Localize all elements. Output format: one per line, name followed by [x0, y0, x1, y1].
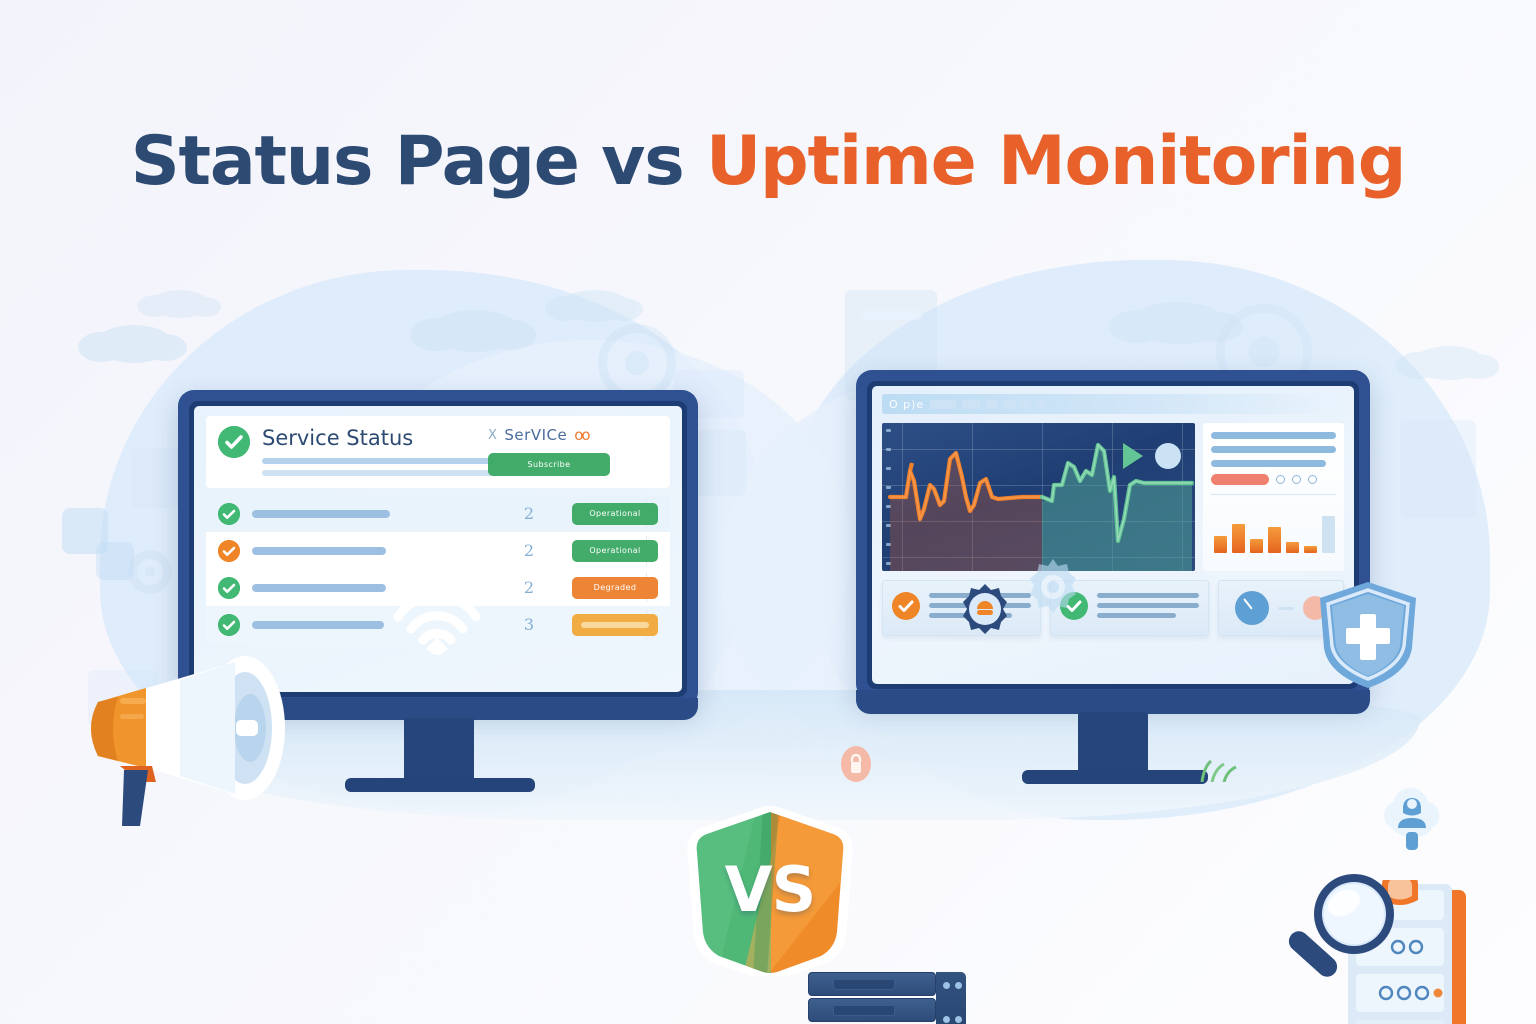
- brand-label: X SerVICe oo: [488, 426, 658, 444]
- bar: [1286, 542, 1299, 553]
- right-monitor-bezel: O p)e: [856, 370, 1370, 700]
- megaphone-icon: [60, 640, 330, 840]
- check-circle-icon: [892, 592, 920, 625]
- toolbar-label: O p)e: [889, 398, 924, 411]
- page-title: Status Page vs Uptime Monitoring: [0, 122, 1536, 201]
- chart-status-dot: [1155, 443, 1181, 469]
- brand-dots: oo: [574, 426, 588, 444]
- gear-icon: [1024, 558, 1082, 616]
- stat-text-bar: [1211, 446, 1336, 453]
- vs-shield-badge: VS: [687, 806, 853, 976]
- side-bar-chart: [1211, 501, 1336, 553]
- right-monitor-base: [1022, 770, 1208, 784]
- row-metric: 2: [524, 578, 534, 597]
- indicator-dot-icon: [1308, 475, 1317, 484]
- grass-decor: [1196, 758, 1242, 787]
- toolbar-block: [1037, 400, 1044, 409]
- check-circle-icon: [218, 503, 240, 525]
- row-metric: 2: [524, 504, 534, 523]
- cloud-watermark-icon: [1412, 346, 1486, 380]
- chart-series-paths: [882, 423, 1195, 571]
- alert-pill: [1211, 474, 1269, 485]
- bar-ghost: [1322, 516, 1335, 553]
- browser-toolbar[interactable]: O p)e: [882, 394, 1344, 414]
- right-monitor-neck: [1078, 712, 1148, 776]
- status-badge: Operational: [572, 540, 658, 562]
- table-row[interactable]: 2 Operational: [206, 495, 670, 532]
- document-watermark-icon: [1400, 420, 1476, 518]
- page-title-navy: Status Page vs: [131, 122, 684, 201]
- toolbar-block: [1004, 400, 1016, 409]
- gear-badge-icon: [958, 582, 1012, 636]
- cloud-watermark-icon: [1130, 302, 1226, 344]
- right-monitor-chin: [856, 690, 1370, 714]
- server-unit: [808, 998, 936, 1022]
- lock-badge-icon: [840, 745, 872, 783]
- server-side-panel: [936, 972, 966, 1024]
- bar: [1232, 524, 1245, 553]
- bar: [1268, 527, 1281, 553]
- check-circle-icon: [218, 540, 240, 562]
- left-monitor-base: [345, 778, 535, 792]
- bar: [1304, 546, 1317, 553]
- magnifier-icon: [1282, 870, 1402, 995]
- document-watermark-icon: [860, 310, 922, 320]
- dashboard-main-row: [882, 423, 1344, 571]
- toolbar-block: [986, 400, 998, 409]
- cloud-watermark-icon: [95, 325, 173, 363]
- server-rack-icon: [808, 972, 966, 1024]
- check-circle-icon: [218, 426, 250, 458]
- connector-line: [1278, 607, 1294, 610]
- document-watermark-icon: [132, 448, 184, 508]
- subscribe-button[interactable]: Subscribe: [488, 453, 610, 476]
- check-circle-icon: [218, 614, 240, 636]
- divider: [1211, 494, 1336, 495]
- bar: [1214, 536, 1227, 553]
- row-metric: 3: [524, 615, 534, 634]
- stat-text-bar: [1211, 432, 1336, 439]
- bar: [1250, 539, 1263, 553]
- illustration-scene: Service Status X SerVICe oo: [0, 250, 1536, 870]
- speedometer-icon: [1235, 591, 1269, 625]
- shield-plus-icon: [1316, 580, 1420, 690]
- uptime-response-chart[interactable]: [882, 423, 1195, 571]
- status-badge: Degraded: [572, 577, 658, 599]
- cloud-user-badge-icon: [1374, 780, 1450, 858]
- status-page-header: Service Status X SerVICe oo: [206, 416, 670, 488]
- status-badge: Operational: [572, 503, 658, 525]
- play-icon[interactable]: [1123, 443, 1143, 469]
- table-row[interactable]: 2 Operational: [206, 532, 670, 569]
- card-lines: [1097, 593, 1199, 623]
- brand-name: SerVICe: [504, 426, 567, 444]
- dashboard-side-stats: [1203, 423, 1344, 571]
- close-icon[interactable]: X: [488, 428, 497, 443]
- cloud-watermark-icon: [560, 290, 630, 322]
- toolbar-block: [1022, 400, 1031, 409]
- stat-text-bar: [1211, 460, 1326, 467]
- toolbar-block: [930, 400, 956, 409]
- page-title-orange: Uptime Monitoring: [706, 122, 1405, 201]
- status-page-brand-area: X SerVICe oo Subscribe: [488, 426, 658, 476]
- vs-label: VS: [687, 806, 853, 976]
- cloud-watermark-icon: [150, 290, 210, 318]
- puzzle-watermark-icon: [96, 542, 134, 580]
- check-circle-icon: [218, 577, 240, 599]
- wifi-icon: [390, 575, 484, 655]
- dashboard-cards: [882, 580, 1344, 636]
- monitoring-dashboard-screen[interactable]: O p)e: [872, 386, 1354, 684]
- indicator-dot-icon: [1292, 475, 1301, 484]
- cloud-watermark-icon: [430, 310, 520, 352]
- status-badge: [572, 614, 658, 636]
- indicator-dot-icon: [1276, 475, 1285, 484]
- alert-row: [1211, 474, 1336, 485]
- left-monitor-neck: [404, 718, 474, 784]
- toolbar-block: [962, 400, 980, 409]
- row-metric: 2: [524, 541, 534, 560]
- gear-watermark-icon: [128, 550, 172, 594]
